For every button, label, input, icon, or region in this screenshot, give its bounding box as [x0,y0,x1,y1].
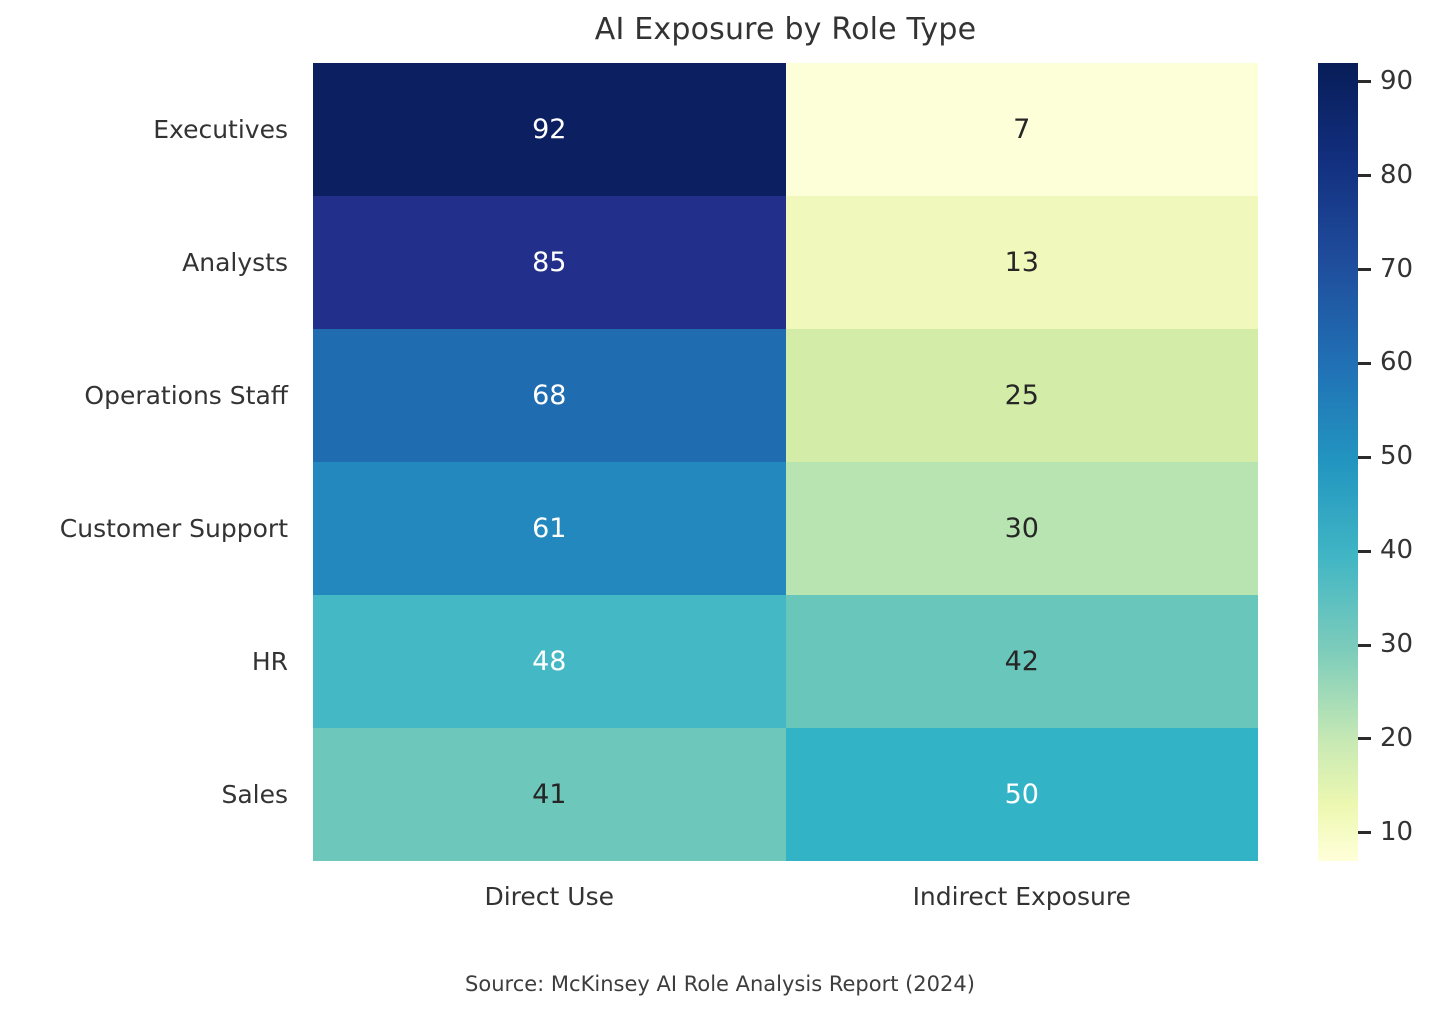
heatmap-cell-value: 61 [532,515,566,542]
heatmap-cell[interactable]: 41 [313,728,786,861]
colorbar-tick-label: 50 [1380,443,1413,469]
heatmap-cell-value: 7 [1013,116,1030,143]
x-axis-tick-label: Direct Use [313,872,786,920]
heatmap-cell[interactable]: 30 [786,462,1259,595]
heatmap-cell[interactable]: 85 [313,196,786,329]
heatmap-cell-value: 85 [532,249,566,276]
colorbar-tick-mark [1358,644,1371,647]
x-axis-tick-label: Indirect Exposure [786,872,1259,920]
y-axis-tick-label: Operations Staff [0,329,296,462]
colorbar-tick-label: 20 [1380,725,1413,751]
heatmap-cell[interactable]: 42 [786,595,1259,728]
heatmap-cell[interactable]: 61 [313,462,786,595]
heatmap-cell-value: 68 [532,382,566,409]
heatmap-cell-value: 30 [1005,515,1039,542]
heatmap-cell-value: 13 [1005,249,1039,276]
heatmap-plot-area: 92 7 85 13 68 25 61 30 48 42 41 50 [313,63,1258,861]
heatmap-cell-value: 92 [532,116,566,143]
y-axis-tick-label: Analysts [0,196,296,329]
colorbar-tick-mark [1358,268,1371,271]
y-axis-tick-label: Customer Support [0,462,296,595]
colorbar-tick-mark [1358,550,1371,553]
chart-figure: AI Exposure by Role Type Executives Anal… [0,0,1440,1022]
heatmap-cell[interactable]: 50 [786,728,1259,861]
colorbar-tick-label: 10 [1380,819,1413,845]
colorbar-tick-label: 70 [1380,256,1413,282]
heatmap-grid: 92 7 85 13 68 25 61 30 48 42 41 50 [313,63,1258,861]
colorbar: 908070605040302010 [1318,63,1358,861]
heatmap-cell-value: 42 [1005,648,1039,675]
heatmap-cell[interactable]: 13 [786,196,1259,329]
colorbar-tick-label: 60 [1380,349,1413,375]
colorbar-tick-label: 90 [1380,68,1413,94]
colorbar-tick-mark [1358,362,1371,365]
heatmap-cell-value: 41 [532,781,566,808]
colorbar-tick-mark [1358,80,1371,83]
colorbar-tick-mark [1358,831,1371,834]
source-note: Source: McKinsey AI Role Analysis Report… [0,972,1440,996]
colorbar-ticks: 908070605040302010 [1358,63,1440,861]
heatmap-cell[interactable]: 92 [313,63,786,196]
heatmap-cell[interactable]: 68 [313,329,786,462]
y-axis-tick-label: HR [0,595,296,728]
colorbar-tick-label: 40 [1380,537,1413,563]
colorbar-tick-label: 80 [1380,162,1413,188]
colorbar-gradient [1318,63,1358,861]
x-axis-labels: Direct Use Indirect Exposure [313,872,1258,920]
heatmap-cell[interactable]: 7 [786,63,1259,196]
heatmap-cell-value: 25 [1005,382,1039,409]
heatmap-cell[interactable]: 48 [313,595,786,728]
heatmap-cell-value: 48 [532,648,566,675]
y-axis-tick-label: Executives [0,63,296,196]
chart-title: AI Exposure by Role Type [313,12,1258,47]
colorbar-tick-mark [1358,737,1371,740]
colorbar-tick-label: 30 [1380,631,1413,657]
heatmap-cell[interactable]: 25 [786,329,1259,462]
y-axis-labels: Executives Analysts Operations Staff Cus… [0,63,296,861]
heatmap-cell-value: 50 [1005,781,1039,808]
colorbar-tick-mark [1358,174,1371,177]
colorbar-tick-mark [1358,456,1371,459]
y-axis-tick-label: Sales [0,728,296,861]
